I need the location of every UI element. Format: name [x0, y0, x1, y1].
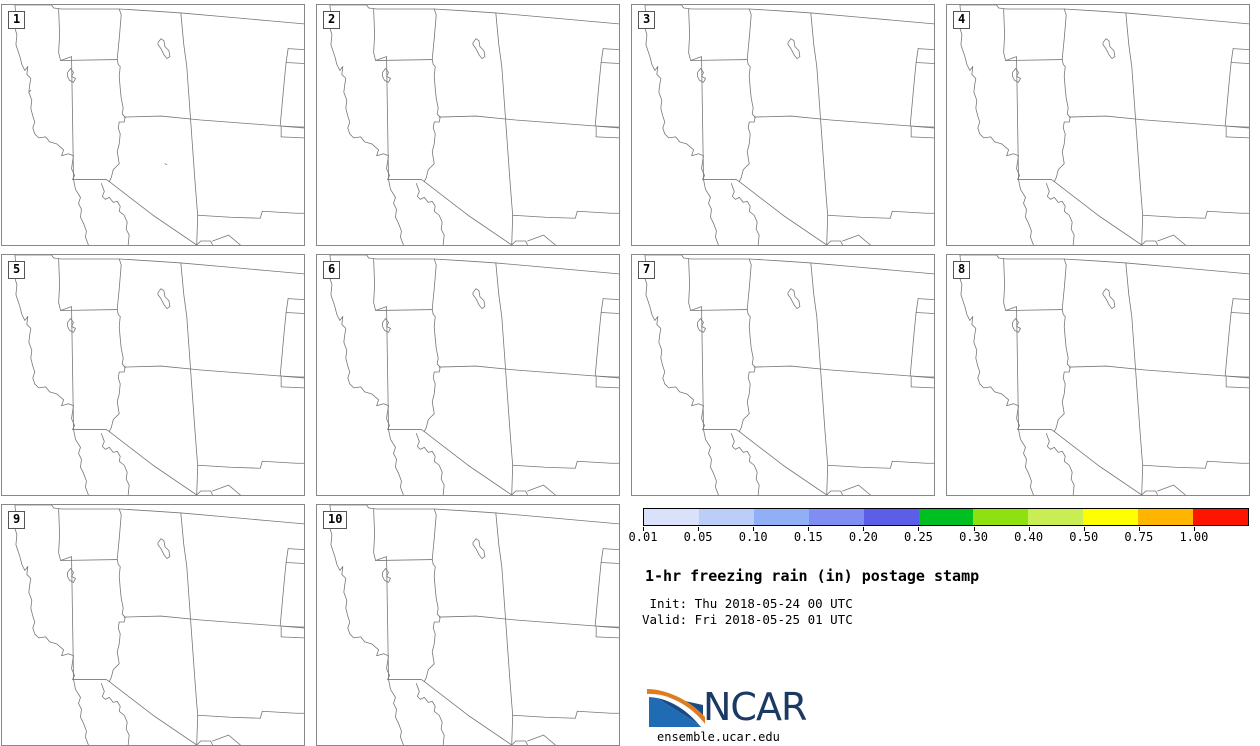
colorbar-segment-0.25	[919, 509, 974, 525]
map-panel-member-4[interactable]: 4	[946, 4, 1250, 246]
page-title: 1-hr freezing rain (in) postage stamp	[645, 567, 979, 585]
forecast-time-block: Init: Thu 2018-05-24 00 UTC Valid: Fri 2…	[642, 596, 853, 628]
map-outline-svg	[947, 255, 1249, 495]
map-panel-member-9[interactable]: 9	[1, 504, 305, 746]
colorbar-segment-0.05	[699, 509, 754, 525]
ensemble-url-label: ensemble.ucar.edu	[657, 730, 780, 744]
colorbar-tick-label-0.20: 0.20	[833, 530, 893, 544]
panel-label-10: 10	[323, 511, 347, 529]
colorbar-segment-0.40	[1028, 509, 1083, 525]
map-panel-member-8[interactable]: 8	[946, 254, 1250, 496]
colorbar-tick-label-0.05: 0.05	[668, 530, 728, 544]
colorbar-tick-label-0.10: 0.10	[723, 530, 783, 544]
colorbar-swatches	[643, 508, 1249, 526]
map-outline-svg	[632, 5, 934, 245]
colorbar-tick-label-0.40: 0.40	[999, 530, 1059, 544]
panel-label-7: 7	[638, 261, 655, 279]
map-outline-svg	[2, 505, 304, 745]
map-panel-member-3[interactable]: 3	[631, 4, 935, 246]
map-outline-svg	[632, 255, 934, 495]
map-panel-member-5[interactable]: 5	[1, 254, 305, 496]
colorbar-segment-0.01	[644, 509, 699, 525]
map-outline-svg	[2, 5, 304, 245]
panel-label-8: 8	[953, 261, 970, 279]
map-outline-svg	[317, 255, 619, 495]
map-outline-svg	[317, 5, 619, 245]
map-outline-svg	[2, 255, 304, 495]
colorbar-segment-1.00	[1193, 509, 1248, 525]
panel-label-9: 9	[8, 511, 25, 529]
colorbar-segment-0.30	[973, 509, 1028, 525]
panel-label-4: 4	[953, 11, 970, 29]
map-panel-member-6[interactable]: 6	[316, 254, 620, 496]
colorbar-segment-0.10	[754, 509, 809, 525]
map-outline-svg	[317, 505, 619, 745]
map-panel-member-7[interactable]: 7	[631, 254, 935, 496]
panel-label-1: 1	[8, 11, 25, 29]
panel-label-2: 2	[323, 11, 340, 29]
colorbar-segment-0.15	[809, 509, 864, 525]
colorbar-tick-label-0.15: 0.15	[778, 530, 838, 544]
map-panel-member-2[interactable]: 2	[316, 4, 620, 246]
panel-label-3: 3	[638, 11, 655, 29]
panel-label-6: 6	[323, 261, 340, 279]
valid-time-label: Valid: Fri 2018-05-25 01 UTC	[642, 612, 853, 627]
map-outline-svg	[947, 5, 1249, 245]
colorbar-tick-label-0.50: 0.50	[1054, 530, 1114, 544]
map-panel-member-10[interactable]: 10	[316, 504, 620, 746]
colorbar-tick-label-0.25: 0.25	[888, 530, 948, 544]
colorbar-tick-label-0.01: 0.01	[613, 530, 673, 544]
colorbar-tick-label-1.00: 1.00	[1164, 530, 1224, 544]
colorbar-segment-0.75	[1138, 509, 1193, 525]
colorbar-segment-0.50	[1083, 509, 1138, 525]
colorbar-tick-label-0.30: 0.30	[944, 530, 1004, 544]
colorbar-segment-0.20	[864, 509, 919, 525]
colorbar-tick-labels: 0.010.050.100.150.200.250.300.400.500.75…	[643, 527, 1249, 543]
panel-label-5: 5	[8, 261, 25, 279]
ncar-logo[interactable]: NCAR ensemble.ucar.edu	[645, 683, 845, 741]
ncar-wordmark: NCAR	[703, 686, 806, 728]
map-panel-member-1[interactable]: 1	[1, 4, 305, 246]
legend-info-area: 0.010.050.100.150.200.250.300.400.500.75…	[628, 500, 1260, 746]
colorbar-tick-label-0.75: 0.75	[1109, 530, 1169, 544]
colorbar: 0.010.050.100.150.200.250.300.400.500.75…	[643, 508, 1249, 526]
init-time-label: Init: Thu 2018-05-24 00 UTC	[642, 596, 853, 611]
